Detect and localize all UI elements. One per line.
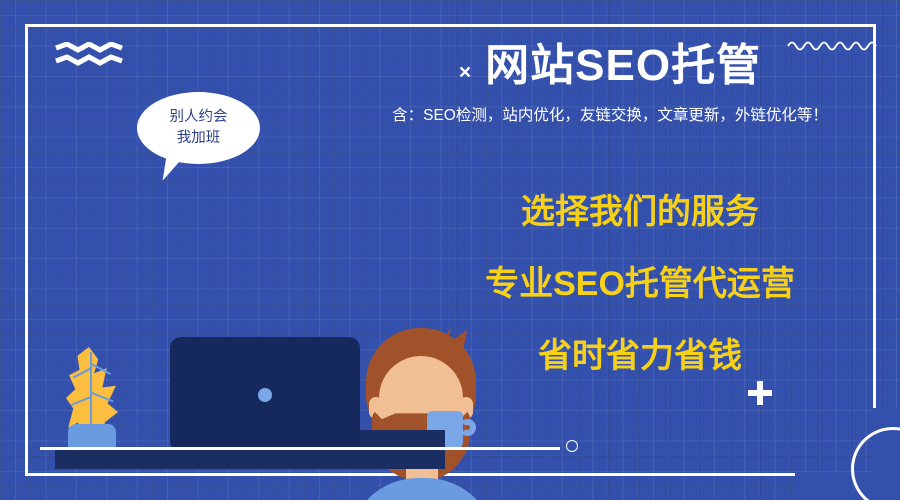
subtitle-text: 含：SEO检测，站内优化，友链交换，文章更新，外链优化等！: [330, 103, 890, 125]
slogan-list: 选择我们的服务 专业SEO托管代运营 省时省力省钱: [430, 195, 850, 373]
slogan-line-3: 省时省力省钱: [430, 339, 850, 373]
slogan-line-2: 专业SEO托管代运营: [430, 267, 850, 301]
page-title: 网站SEO托管: [485, 42, 761, 90]
slogan-line-1: 选择我们的服务: [430, 195, 850, 229]
circle-outline-icon: [566, 440, 578, 452]
plus-icon: [748, 381, 772, 405]
plant-pot: [68, 424, 116, 449]
laptop-logo-dot: [258, 388, 272, 402]
seo-service-banner: × 网站SEO托管 含：SEO检测，站内优化，友链交换，文章更新，外链优化等！ …: [0, 0, 900, 500]
headline-row: × 网站SEO托管: [330, 42, 890, 90]
double-wave-icon: [55, 42, 123, 68]
speech-bubble: 别人约会 我加班: [137, 92, 260, 164]
desk-surface: [55, 449, 445, 469]
headline-block: × 网站SEO托管 含：SEO检测，站内优化，友链交换，文章更新，外链优化等！: [330, 42, 890, 125]
desk-edge-highlight: [40, 447, 560, 450]
speech-bubble-text: 别人约会 我加班: [137, 92, 260, 164]
cross-icon: ×: [459, 62, 471, 83]
speech-bubble-line-1: 别人约会: [170, 107, 228, 128]
speech-bubble-line-2: 我加班: [177, 128, 221, 149]
